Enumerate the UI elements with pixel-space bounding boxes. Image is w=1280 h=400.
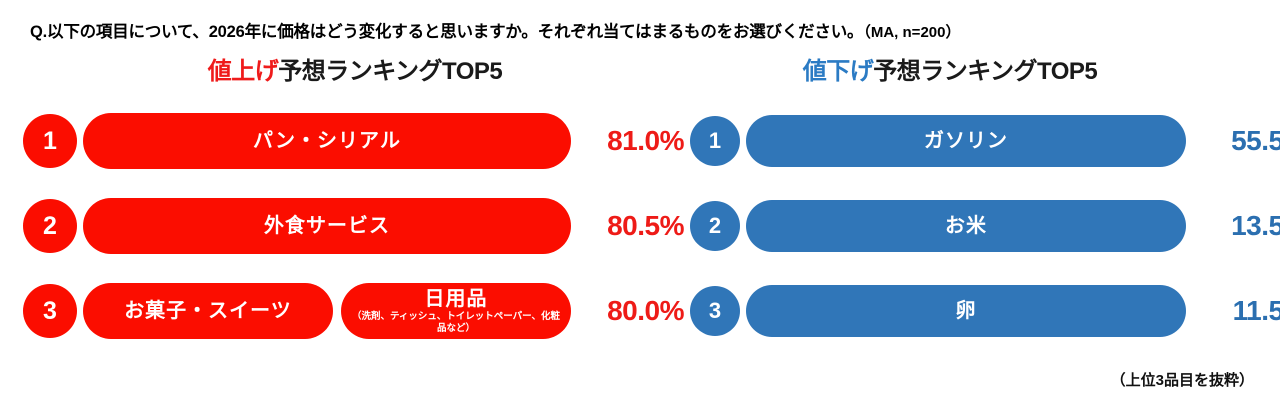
rank-badge: 3 (690, 286, 740, 336)
bar-group: お米 (746, 200, 1186, 252)
category-label: お米 (945, 215, 987, 237)
bar-group: パン・シリアル (83, 113, 571, 169)
column-title-highlight: 値上げ (208, 58, 279, 85)
percent-value: 13.5% (1200, 212, 1280, 240)
category-bar[interactable]: ガソリン (746, 115, 1186, 167)
category-bar[interactable]: パン・シリアル (83, 113, 571, 169)
ranking-row[interactable]: 2 お米 13.5% (680, 195, 1280, 257)
ranking-row[interactable]: 3 お菓子・スイーツ 日用品 （洗剤、ティッシュ、トイレットペーパー、化粧品など… (0, 280, 680, 342)
percent-value: 80.0% (584, 297, 684, 325)
column-title-highlight: 値下げ (803, 58, 874, 85)
ranking-columns: 値上げ予想ランキングTOP5 1 パン・シリアル 81.0% 2 外食サービス (0, 60, 1280, 400)
category-bar[interactable]: 卵 (746, 285, 1186, 337)
category-label: パン・シリアル (253, 130, 401, 152)
bar-group: 外食サービス (83, 198, 571, 254)
percent-value: 80.5% (584, 212, 684, 240)
percent-value: 81.0% (584, 127, 684, 155)
category-sublabel: （洗剤、ティッシュ、トイレットペーパー、化粧品など） (351, 311, 561, 335)
category-bar[interactable]: 外食サービス (83, 198, 571, 254)
column-title-rest: 予想ランキングTOP5 (278, 58, 502, 85)
ranking-row[interactable]: 1 ガソリン 55.5% (680, 110, 1280, 172)
category-label: ガソリン (924, 130, 1008, 152)
bar-group: ガソリン (746, 115, 1186, 167)
category-bar[interactable]: お米 (746, 200, 1186, 252)
column-title-price-increase: 値上げ予想ランキングTOP5 (0, 60, 680, 84)
ranking-row[interactable]: 2 外食サービス 80.5% (0, 195, 680, 257)
rank-badge: 1 (690, 116, 740, 166)
question-headline: Q.以下の項目について、2026年に価格はどう変化すると思いますか。それぞれ当て… (30, 18, 960, 42)
category-label: 外食サービス (264, 215, 390, 237)
ranking-column-price-decrease: 値下げ予想ランキングTOP5 1 ガソリン 55.5% 2 お米 (680, 60, 1280, 84)
rank-badge: 1 (23, 114, 77, 168)
footnote: （上位3品目を抜粋） (1111, 369, 1254, 390)
bar-group: 卵 (746, 285, 1186, 337)
ranking-row[interactable]: 1 パン・シリアル 81.0% (0, 110, 680, 172)
category-label: 日用品 (425, 288, 488, 310)
category-label: お菓子・スイーツ (124, 300, 292, 322)
ranking-rows-price-decrease: 1 ガソリン 55.5% 2 お米 13.5% 3 (680, 110, 1280, 365)
bar-group: お菓子・スイーツ 日用品 （洗剤、ティッシュ、トイレットペーパー、化粧品など） (83, 283, 571, 339)
ranking-column-price-increase: 値上げ予想ランキングTOP5 1 パン・シリアル 81.0% 2 外食サービス (0, 60, 680, 84)
column-title-price-decrease: 値下げ予想ランキングTOP5 (680, 60, 1280, 84)
ranking-rows-price-increase: 1 パン・シリアル 81.0% 2 外食サービス 80.5% 3 (0, 110, 680, 365)
category-label: 卵 (956, 300, 977, 322)
rank-badge: 3 (23, 284, 77, 338)
column-title-rest: 予想ランキングTOP5 (873, 58, 1097, 85)
rank-badge: 2 (690, 201, 740, 251)
question-text: Q.以下の項目について、2026年に価格はどう変化すると思いますか。それぞれ当て… (30, 23, 863, 41)
percent-value: 55.5% (1200, 127, 1280, 155)
question-sample-size: （MA, n=200） (863, 24, 960, 41)
percent-value: 11.5% (1200, 297, 1280, 325)
category-bar[interactable]: お菓子・スイーツ (83, 283, 333, 339)
category-bar[interactable]: 日用品 （洗剤、ティッシュ、トイレットペーパー、化粧品など） (341, 283, 571, 339)
rank-badge: 2 (23, 199, 77, 253)
ranking-row[interactable]: 3 卵 11.5% (680, 280, 1280, 342)
